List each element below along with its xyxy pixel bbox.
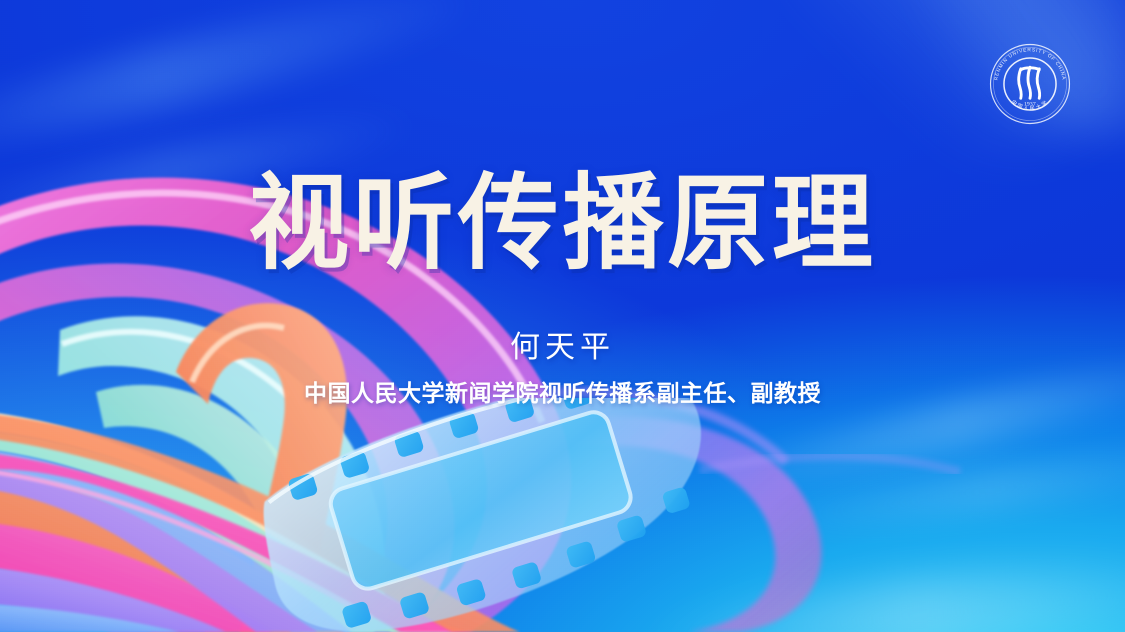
page-title: 视听传播原理 — [17, 172, 1108, 276]
presenter-affiliation: 中国人民大学新闻学院视听传播系副主任、副教授 — [0, 380, 1125, 408]
presenter-name: 何天平 — [0, 331, 1125, 366]
slide-text-content: 视听传播原理 何天平 中国人民大学新闻学院视听传播系副主任、副教授 — [0, 0, 1125, 632]
svg-text:RENMIN UNIVERSITY OF CHINA: RENMIN UNIVERSITY OF CHINA — [993, 47, 1066, 81]
title-slide: 视听传播原理 何天平 中国人民大学新闻学院视听传播系副主任、副教授 1937 — [0, 0, 1125, 632]
renmin-university-seal-icon: 1937 RENMIN UNIVERSITY OF CHINA 中国人民大学 — [988, 42, 1072, 126]
